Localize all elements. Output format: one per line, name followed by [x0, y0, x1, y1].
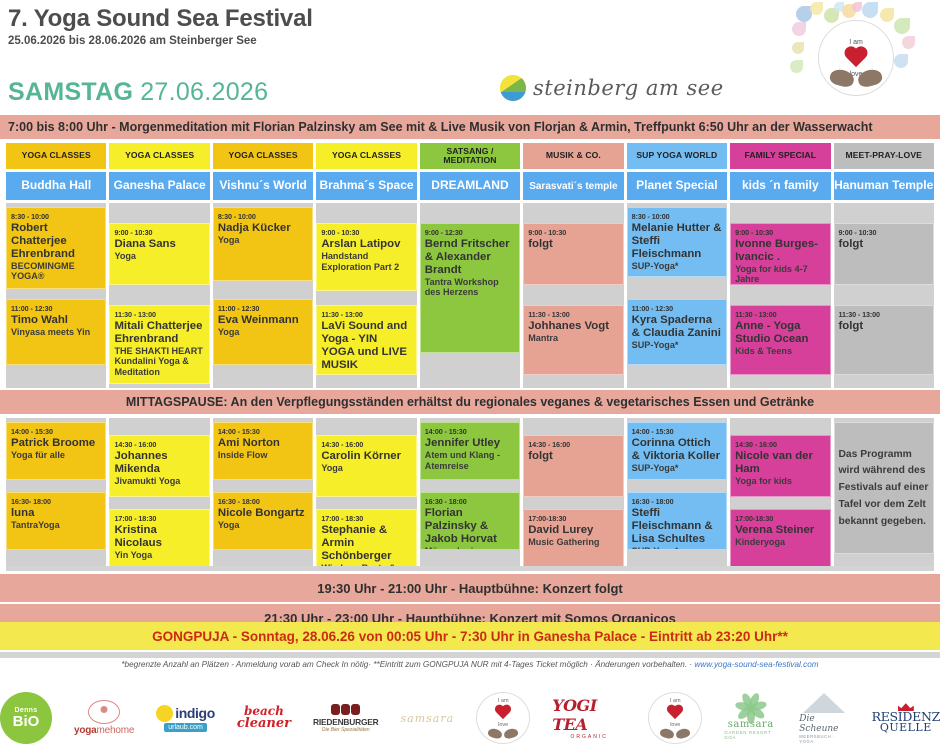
session-teacher: Diana Sans — [114, 238, 204, 251]
room-header-8[interactable]: Hanuman Temple — [834, 172, 934, 200]
session-time: 14:00 - 15:30 — [11, 427, 101, 436]
afternoon-column-8: Das Programm wird während des Festivals … — [834, 418, 934, 570]
session-description: Kinderyoga — [735, 537, 825, 548]
session-time: 16:30 - 18:00 — [425, 497, 515, 506]
day-heading: SAMSTAG 27.06.2026 — [8, 80, 268, 105]
love2-bottom: love — [670, 722, 680, 728]
session-time: 14:00 - 15:30 — [632, 427, 722, 436]
session-teacher: Jennifer Utley — [425, 437, 515, 450]
session-time: 14:30 - 16:00 — [528, 440, 618, 449]
sponsor-yogamehome: yogamehome — [74, 692, 134, 744]
love1-top: I am — [498, 698, 509, 704]
evening-concert-banner-1: 19:30 Uhr - 21:00 Uhr - Hauptbühne: Konz… — [0, 574, 940, 602]
hands-icon — [830, 69, 882, 86]
category-header-6: SUP YOGA WORLD — [627, 143, 727, 169]
sponsor-i-am-love-1: I am love — [476, 692, 530, 744]
morning-column-1: 9:00 - 10:30Diana SansYoga11:30 - 13:00M… — [109, 203, 209, 388]
session-time: 17:00-18:30 — [528, 514, 618, 523]
session-teacher: Anne - Yoga Studio Ocean — [735, 320, 825, 346]
afternoon-column-6: 14:00 - 15:30Corinna Ottich & Viktoria K… — [627, 418, 727, 570]
session-time: 14:00 - 15:30 — [425, 427, 515, 436]
die-scheune-sub: MEERSBUCH · YOGA — [799, 734, 849, 744]
sponsor-denns-bio: Denns BiO — [0, 692, 52, 744]
session-teacher: Patrick Broome — [11, 437, 101, 450]
love-emblem-top-text: I am — [849, 39, 863, 46]
sponsor-logo-strip: Denns BiO yogamehome indigo urlaub.com b… — [0, 686, 940, 750]
session-teacher: Ami Norton — [218, 437, 308, 450]
session-card[interactable]: 16:30 - 18:00Steffi Fleischmann & Lisa S… — [627, 492, 727, 550]
session-card[interactable]: 17:00 - 18:30Stephanie & Armin Schönberg… — [316, 509, 416, 570]
heart-icon — [843, 47, 869, 70]
lunch-break-banner: MITTAGSPAUSE: An den Verpflegungsständen… — [0, 390, 940, 414]
session-time: 17:00 - 18:30 — [321, 514, 411, 523]
yogamehome-label: yogamehome — [74, 725, 134, 736]
session-teacher: Verena Steiner — [735, 524, 825, 537]
category-header-4: SATSANG / MEDITATION — [420, 143, 520, 169]
sun-icon — [156, 705, 173, 722]
session-teacher: Nadja Kücker — [218, 222, 308, 235]
hands-icon — [660, 729, 690, 738]
session-card[interactable]: 8:30 - 10:00Melanie Hutter & Steffi Flei… — [627, 207, 727, 277]
page-title: 7. Yoga Sound Sea Festival — [8, 6, 313, 31]
session-time: 8:30 - 10:00 — [218, 212, 308, 221]
session-description: Männerkreis — [425, 546, 515, 550]
room-header-row: Buddha HallGanesha PalaceVishnu´s WorldB… — [6, 169, 934, 200]
sponsor-residenz-quelle: RESIDENZ QUELLE — [872, 692, 940, 744]
festival-schedule-page: 7. Yoga Sound Sea Festival 25.06.2026 bi… — [0, 0, 940, 750]
sponsor-riedenburger: RIEDENBURGER Die Bier Spezialitäten — [313, 692, 379, 744]
session-card[interactable]: 14:00 - 15:30Corinna Ottich & Viktoria K… — [627, 422, 727, 480]
session-time: 16:30 - 18:00 — [632, 497, 722, 506]
category-header-2: YOGA CLASSES — [213, 143, 313, 169]
samsara-label: samsara — [401, 712, 455, 725]
sponsor-samsara-1: samsara — [401, 692, 455, 744]
afternoon-column-7: 14:30 - 16:00Nicole van der HamYoga for … — [730, 418, 830, 570]
denns-bio-logo-icon: Denns BiO — [0, 692, 52, 744]
session-description: Yoga for kids 4-7 Jahre — [735, 264, 825, 285]
morning-column-6: 8:30 - 10:00Melanie Hutter & Steffi Flei… — [627, 203, 727, 388]
room-header-1[interactable]: Ganesha Palace — [109, 172, 209, 200]
flower-icon — [738, 697, 764, 719]
afternoon-column-4: 14:00 - 15:30Jennifer UtleyAtem und Klan… — [420, 418, 520, 570]
session-time: 9:00 - 10:30 — [321, 228, 411, 237]
meditation-figure-icon — [88, 700, 120, 724]
session-card[interactable]: 9:00 - 10:30Diana SansYoga — [109, 223, 209, 285]
yogi-tea-sub: ORGANIC — [571, 734, 608, 740]
session-card[interactable]: 14:30 - 16:00Johannes MikendaJivamukti Y… — [109, 435, 209, 497]
sponsor-beach-cleaner: beach cleaner — [237, 692, 291, 744]
session-card[interactable]: 16:30- 18:00lunaTantraYoga — [6, 492, 106, 550]
sponsor-i-am-love-2: I am love — [648, 692, 702, 744]
session-card[interactable]: 9:00 - 12:30Bernd Fritscher & Alexander … — [420, 223, 520, 353]
session-time: 11:00 - 12:30 — [218, 304, 308, 313]
session-card[interactable]: 9:00 - 10:30folgt — [834, 223, 934, 285]
die-scheune-label: Die Scheune — [799, 714, 849, 734]
session-card[interactable]: 9:00 - 10:30Arslan LatipovHandstand Expl… — [316, 223, 416, 291]
session-card[interactable]: Das Programm wird während des Festivals … — [834, 422, 934, 554]
beach-cleaner-line2: cleaner — [237, 718, 291, 730]
session-description: SUP-Yoga* — [632, 546, 722, 550]
session-teacher: luna — [11, 507, 101, 520]
session-time: 11:30 - 13:00 — [735, 310, 825, 319]
session-time: 14:30 - 16:00 — [321, 440, 411, 449]
heart-icon — [666, 705, 684, 721]
session-teacher: Corinna Ottich & Viktoria Koller — [632, 437, 722, 463]
session-description: Jivamukti Yoga — [114, 476, 204, 487]
session-teacher: Kyra Spaderna & Claudia Zanini — [632, 314, 722, 340]
session-teacher: Robert Chatterjee Ehrenbrand — [11, 222, 101, 261]
session-description: BECOMINGME YOGA® — [11, 261, 101, 282]
session-card[interactable]: 9:00 - 10:30Ivonne Burges-Ivancic .Yoga … — [730, 223, 830, 285]
session-card[interactable]: 9:00 - 10:30folgt — [523, 223, 623, 285]
session-description: Music Gathering — [528, 537, 618, 548]
session-description: Yoga — [321, 463, 411, 474]
session-time: 11:30 - 13:00 — [528, 310, 618, 319]
session-description: Handstand Exploration Part 2 — [321, 251, 411, 272]
session-teacher: Nicole Bongartz — [218, 507, 308, 520]
session-teacher: folgt — [839, 238, 929, 251]
i-am-love-flower-logo: I am love — [790, 2, 920, 102]
session-card[interactable]: 11:30 - 13:00folgt — [834, 305, 934, 375]
room-header-2[interactable]: Vishnu´s World — [213, 172, 313, 200]
session-card[interactable]: 11:00 - 12:30Eva WeinmannYoga — [213, 299, 313, 365]
session-teacher: Kristina Nicolaus — [114, 524, 204, 550]
afternoon-column-1: 14:30 - 16:00Johannes MikendaJivamukti Y… — [109, 418, 209, 570]
yogi-tea-label: YOGI TEA — [552, 696, 626, 734]
category-header-8: MEET-PRAY-LOVE — [834, 143, 934, 169]
category-header-5: MUSIK & CO. — [523, 143, 623, 169]
session-time: 11:00 - 12:30 — [11, 304, 101, 313]
footnote-text: *begrenzte Anzahl an Plätzen - Anmeldung… — [121, 660, 692, 669]
morning-column-4: 9:00 - 12:30Bernd Fritscher & Alexander … — [420, 203, 520, 388]
category-header-7: FAMILY SPECIAL — [730, 143, 830, 169]
session-time: 8:30 - 10:00 — [11, 212, 101, 221]
session-teacher: Florian Palzinsky & Jakob Horvat — [425, 507, 515, 546]
session-card[interactable]: 17:00 - 18:30Kristina NicolausYin Yoga — [109, 509, 209, 569]
session-time: 9:00 - 10:30 — [735, 228, 825, 237]
sponsor-yogi-tea: YOGI TEA ORGANIC — [552, 692, 626, 744]
header-block: 7. Yoga Sound Sea Festival 25.06.2026 bi… — [8, 6, 313, 47]
morning-column-3: 9:00 - 10:30Arslan LatipovHandstand Expl… — [316, 203, 416, 388]
session-teacher: Stephanie & Armin Schönberger — [321, 524, 411, 563]
samsara-goa-sub: GARDEN RESORT GOA — [724, 730, 777, 740]
session-teacher: folgt — [528, 238, 618, 251]
morning-column-5: 9:00 - 10:30folgt11:30 - 13:00Johhanes V… — [523, 203, 623, 388]
residenz-line2: QUELLE — [880, 723, 932, 733]
morning-column-2: 8:30 - 10:00Nadja KückerYoga11:00 - 12:3… — [213, 203, 313, 388]
room-header-6[interactable]: Planet Special — [627, 172, 727, 200]
indigo-row: indigo — [156, 705, 215, 722]
session-time: 9:00 - 10:30 — [839, 228, 929, 237]
session-description: Tantra Workshop des Herzens — [425, 277, 515, 298]
session-teacher: folgt — [528, 450, 618, 463]
session-card[interactable]: 11:30 - 13:00Johhanes VogtMantra — [523, 305, 623, 375]
info-note-text: Das Programm wird während des Festivals … — [839, 447, 929, 530]
i-am-love-logo-icon-1: I am love — [476, 692, 530, 744]
session-time: 11:30 - 13:00 — [321, 310, 411, 319]
session-teacher: Timo Wahl — [11, 314, 101, 327]
session-card[interactable]: 11:30 - 13:00LaVi Sound and Yoga - YIN Y… — [316, 305, 416, 375]
session-teacher: Bernd Fritscher & Alexander Brandt — [425, 238, 515, 277]
session-description: Yoga — [218, 235, 308, 246]
session-card[interactable]: 11:00 - 12:30Timo WahlVinyasa meets Yin — [6, 299, 106, 365]
session-teacher: Eva Weinmann — [218, 314, 308, 327]
morning-column-8: 9:00 - 10:30folgt11:30 - 13:00folgt — [834, 203, 934, 388]
category-header-3: YOGA CLASSES — [316, 143, 416, 169]
grid-bottom-divider — [6, 566, 934, 571]
session-time: 9:00 - 12:30 — [425, 228, 515, 237]
session-teacher: Johhanes Vogt — [528, 320, 618, 333]
sponsor-indigo-urlaub: indigo urlaub.com — [156, 692, 215, 744]
steinberg-logo-text: steinberg am see — [533, 76, 724, 100]
schedule-header-grid: YOGA CLASSESYOGA CLASSESYOGA CLASSESYOGA… — [6, 143, 934, 200]
session-description: SUP-Yoga* — [632, 261, 722, 272]
session-description: Yoga for kids — [735, 476, 825, 487]
heart-icon — [494, 705, 512, 721]
session-teacher: Mitali Chatterjee Ehrenbrand — [114, 320, 204, 346]
session-teacher: folgt — [839, 320, 929, 333]
festival-website-link[interactable]: www.yoga-sound-sea-festival.com — [694, 660, 818, 669]
session-card[interactable]: 8:30 - 10:00Robert Chatterjee Ehrenbrand… — [6, 207, 106, 289]
session-time: 9:00 - 10:30 — [528, 228, 618, 237]
session-time: 16:30 - 18:00 — [218, 497, 308, 506]
session-time: 11:00 - 12:30 — [632, 304, 722, 313]
crown-icon — [898, 703, 914, 711]
session-teacher: Ivonne Burges-Ivancic . — [735, 238, 825, 264]
category-header-1: YOGA CLASSES — [109, 143, 209, 169]
session-teacher: Johannes Mikenda — [114, 450, 204, 476]
steinberg-am-see-logo: steinberg am see — [500, 75, 724, 101]
session-description: SUP-Yoga* — [632, 340, 722, 351]
session-description: Yoga für alle — [11, 450, 101, 461]
session-description: Yoga — [218, 520, 308, 531]
denns-bio-line2: BiO — [13, 714, 40, 729]
session-description: Kids & Teens — [735, 346, 825, 357]
i-am-love-logo-icon-2: I am love — [648, 692, 702, 744]
session-description: Yoga — [114, 251, 204, 262]
session-time: 14:30 - 16:00 — [114, 440, 204, 449]
morning-meditation-banner: 7:00 bis 8:00 Uhr - Morgenmeditation mit… — [0, 115, 940, 139]
room-header-7[interactable]: kids ´n family — [730, 172, 830, 200]
session-time: 14:00 - 15:30 — [218, 427, 308, 436]
i-am-love-emblem: I am love — [818, 20, 894, 96]
session-card[interactable]: 14:30 - 16:00Nicole van der HamYoga for … — [730, 435, 830, 497]
riedenburger-line2: Die Bier Spezialitäten — [322, 727, 370, 733]
session-card[interactable]: 14:30 - 16:00folgt — [523, 435, 623, 497]
afternoon-column-0: 14:00 - 15:30Patrick BroomeYoga für alle… — [6, 418, 106, 570]
session-card[interactable]: 14:00 - 15:30Ami NortonInside Flow — [213, 422, 313, 480]
session-teacher: Carolin Körner — [321, 450, 411, 463]
footer-divider — [0, 652, 940, 658]
category-header-row: YOGA CLASSESYOGA CLASSESYOGA CLASSESYOGA… — [6, 143, 934, 169]
session-time: 16:30- 18:00 — [11, 497, 101, 506]
sponsor-die-scheune: Die Scheune MEERSBUCH · YOGA — [799, 692, 849, 744]
afternoon-column-2: 14:00 - 15:30Ami NortonInside Flow16:30 … — [213, 418, 313, 570]
afternoon-timetable: 14:00 - 15:30Patrick BroomeYoga für alle… — [6, 418, 934, 570]
session-card[interactable]: 14:00 - 15:30Jennifer UtleyAtem und Klan… — [420, 422, 520, 480]
session-time: 14:30 - 16:00 — [735, 440, 825, 449]
session-time: 11:30 - 13:00 — [839, 310, 929, 319]
gongpuja-banner: GONGPUJA - Sonntag, 28.06.26 von 00:05 U… — [0, 622, 940, 650]
session-description: Vinyasa meets Yin — [11, 327, 101, 338]
session-time: 9:00 - 10:30 — [114, 228, 204, 237]
session-teacher: LaVi Sound and Yoga - YIN YOGA und LIVE … — [321, 320, 411, 372]
steinberg-mark-icon — [500, 75, 526, 101]
session-description: Atem und Klang - Atemreise — [425, 450, 515, 471]
hands-icon — [488, 729, 518, 738]
session-description: Yoga — [218, 327, 308, 338]
session-card[interactable]: 14:00 - 15:30Patrick BroomeYoga für alle — [6, 422, 106, 480]
session-description: TantraYoga — [11, 520, 101, 531]
session-card[interactable]: 17:00-18:30Verena SteinerKinderyoga — [730, 509, 830, 570]
session-card[interactable]: 11:30 - 13:00Mitali Chatterjee Ehrenbran… — [109, 305, 209, 384]
session-card[interactable]: 11:30 - 13:00Anne - Yoga Studio OceanKid… — [730, 305, 830, 375]
session-card[interactable]: 16:30 - 18:00Nicole BongartzYoga — [213, 492, 313, 550]
session-description: Yin Yoga — [114, 550, 204, 561]
session-description: THE SHAKTI HEART Kundalini Yoga & Medita… — [114, 346, 204, 378]
sponsor-samsara-goa: samsara GARDEN RESORT GOA — [724, 692, 777, 744]
riedenburger-line1: RIEDENBURGER — [313, 717, 379, 727]
session-time: 17:00 - 18:30 — [114, 514, 204, 523]
morning-column-7: 9:00 - 10:30Ivonne Burges-Ivancic .Yoga … — [730, 203, 830, 388]
afternoon-column-3: 14:30 - 16:00Carolin KörnerYoga17:00 - 1… — [316, 418, 416, 570]
page-subtitle: 25.06.2026 bis 28.06.2026 am Steinberger… — [8, 35, 313, 47]
session-description: Inside Flow — [218, 450, 308, 461]
session-card[interactable]: 16:30 - 18:00Florian Palzinsky & Jakob H… — [420, 492, 520, 550]
morning-column-0: 8:30 - 10:00Robert Chatterjee Ehrenbrand… — [6, 203, 106, 388]
room-header-3[interactable]: Brahma´s Space — [316, 172, 416, 200]
session-time: 11:30 - 13:00 — [114, 310, 204, 319]
day-name: SAMSTAG — [8, 78, 133, 106]
indigo-url-label: urlaub.com — [164, 723, 207, 732]
session-time: 17:00-18:30 — [735, 514, 825, 523]
love2-top: I am — [670, 698, 681, 704]
session-card[interactable]: 11:00 - 12:30Kyra Spaderna & Claudia Zan… — [627, 299, 727, 365]
session-teacher: David Lurey — [528, 524, 618, 537]
session-teacher: Steffi Fleischmann & Lisa Schultes — [632, 507, 722, 546]
session-teacher: Arslan Latipov — [321, 238, 411, 251]
session-description: Mantra — [528, 333, 618, 344]
indigo-label: indigo — [175, 705, 215, 721]
room-header-5[interactable]: Sarasvati´s temple — [523, 172, 623, 200]
day-date: 27.06.2026 — [140, 78, 268, 106]
afternoon-column-5: 14:30 - 16:00folgt17:00-18:30David Lurey… — [523, 418, 623, 570]
session-description: SUP-Yoga* — [632, 463, 722, 474]
session-time: 8:30 - 10:00 — [632, 212, 722, 221]
love1-bottom: love — [498, 722, 508, 728]
pyramid-icon — [803, 693, 845, 713]
room-header-0[interactable]: Buddha Hall — [6, 172, 106, 200]
session-card[interactable]: 8:30 - 10:00Nadja KückerYoga — [213, 207, 313, 281]
footnote: *begrenzte Anzahl an Plätzen - Anmeldung… — [0, 660, 940, 669]
session-teacher: Nicole van der Ham — [735, 450, 825, 476]
session-teacher: Melanie Hutter & Steffi Fleischmann — [632, 222, 722, 261]
session-card[interactable]: 17:00-18:30David LureyMusic Gathering — [523, 509, 623, 570]
category-header-0: YOGA CLASSES — [6, 143, 106, 169]
beer-barrels-icon — [331, 704, 360, 715]
session-card[interactable]: 14:30 - 16:00Carolin KörnerYoga — [316, 435, 416, 497]
room-header-4[interactable]: DREAMLAND — [420, 172, 520, 200]
morning-timetable: 8:30 - 10:00Robert Chatterjee Ehrenbrand… — [6, 203, 934, 388]
